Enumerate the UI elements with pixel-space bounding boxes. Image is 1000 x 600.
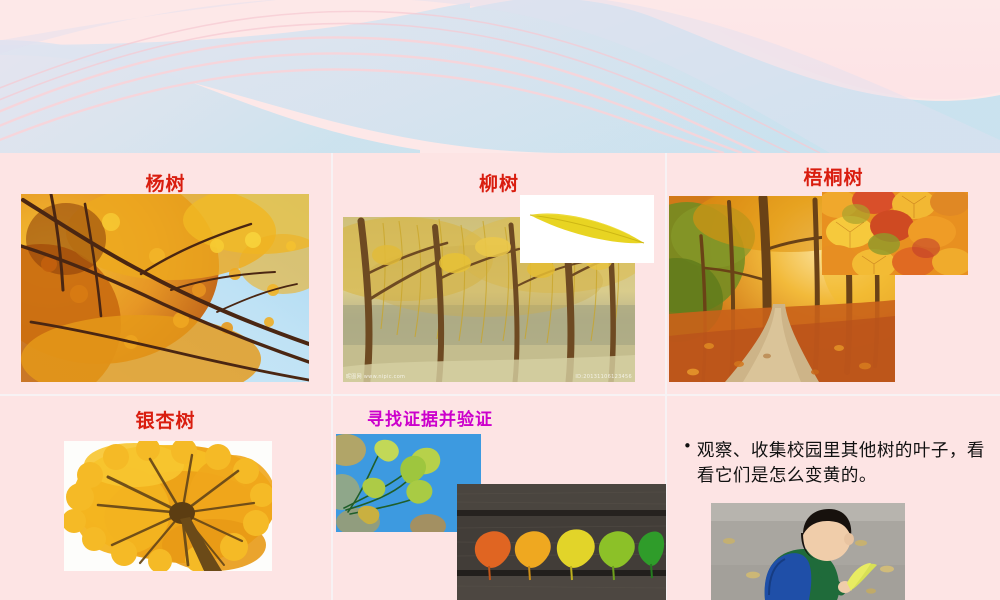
slide-canvas: 杨树 bbox=[0, 0, 1000, 600]
panel-willow: 柳树 bbox=[333, 153, 667, 396]
watermark-left: 昵图网 www.nipic.com bbox=[346, 373, 405, 380]
bullet-marker-icon: • bbox=[683, 439, 692, 454]
photo-leaf-color-gradient-inset bbox=[457, 484, 666, 600]
panel-grid: 杨树 bbox=[0, 153, 1000, 600]
panel-title-plane-tree: 梧桐树 bbox=[667, 163, 1000, 190]
panel-activity: • 观察、收集校园里其他树的叶子，看看它们是怎么变黄的。 bbox=[667, 396, 1000, 600]
activity-bullet-text: 观察、收集校园里其他树的叶子，看看它们是怎么变黄的。 bbox=[697, 439, 993, 490]
photo-poplar-canopy bbox=[21, 194, 309, 382]
activity-bullet: • 观察、收集校园里其他树的叶子，看看它们是怎么变黄的。 bbox=[683, 439, 993, 490]
photo-maple-leaf-pile-inset bbox=[822, 192, 968, 275]
photo-child-collecting-leaves bbox=[711, 503, 905, 600]
panel-ginkgo: 银杏树 bbox=[0, 396, 333, 600]
panel-title-poplar: 杨树 bbox=[0, 169, 331, 196]
panel-poplar: 杨树 bbox=[0, 153, 333, 396]
panel-evidence: 寻找证据并验证 bbox=[333, 396, 667, 600]
photo-ginkgo-canopy bbox=[64, 441, 272, 571]
panel-title-ginkgo: 银杏树 bbox=[0, 406, 331, 433]
header-wave-decoration bbox=[0, 0, 1000, 153]
panel-plane-tree: 梧桐树 bbox=[667, 153, 1000, 396]
panel-title-evidence: 寻找证据并验证 bbox=[333, 405, 493, 430]
watermark-right: ID:20131106123456 bbox=[575, 374, 632, 380]
panel-title-willow: 柳树 bbox=[333, 169, 665, 196]
photo-willow-leaf-inset bbox=[520, 195, 654, 263]
